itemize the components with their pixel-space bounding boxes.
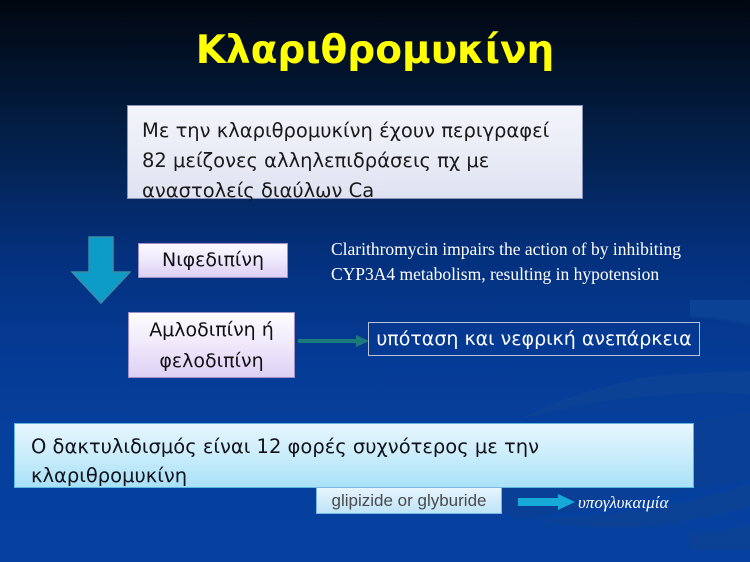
intro-text-box: Με την κλαριθρομυκίνη έχουν περιγραφεί 8… xyxy=(127,105,583,199)
english-note-line-2: CYP3A4 metabolism, resulting in hypotens… xyxy=(331,262,721,287)
right-arrow-icon-glipizide xyxy=(518,494,576,510)
slide-title: Κλαριθρομυκίνη xyxy=(0,28,750,73)
slide-canvas: Κλαριθρομυκίνη Με την κλαριθρομυκίνη έχο… xyxy=(0,0,750,562)
nifedipine-label: Νιφεδιπίνη xyxy=(162,249,264,271)
down-arrow-icon xyxy=(71,236,131,304)
intro-text: Με την κλαριθρομυκίνη έχουν περιγραφεί 8… xyxy=(142,119,549,202)
amlodipine-felodipine-label: Αμλοδιπίνη ή φελοδιπίνη xyxy=(149,319,274,372)
right-arrow-icon-amlodipine xyxy=(298,332,370,350)
english-note-line-1: Clarithromycin impairs the action of by … xyxy=(331,237,721,262)
sulfonylurea-box: glipizide or glyburide xyxy=(316,487,502,514)
hypotension-outcome-box: υπόταση και νεφρική ανεπάρκεια xyxy=(368,322,700,356)
hypoglycaemia-label: υπογλυκαιμία xyxy=(578,493,668,513)
ring-frequency-text: Ο δακτυλιδισμός είναι 12 φορές συχνότερο… xyxy=(31,435,539,487)
amlodipine-felodipine-box: Αμλοδιπίνη ή φελοδιπίνη xyxy=(128,312,295,378)
sulfonylurea-label: glipizide or glyburide xyxy=(332,491,487,510)
ring-frequency-box: Ο δακτυλιδισμός είναι 12 φορές συχνότερο… xyxy=(14,423,694,488)
nifedipine-box: Νιφεδιπίνη xyxy=(138,243,288,278)
english-mechanism-note: Clarithromycin impairs the action of by … xyxy=(331,237,721,287)
hypotension-outcome-label: υπόταση και νεφρική ανεπάρκεια xyxy=(376,328,691,350)
